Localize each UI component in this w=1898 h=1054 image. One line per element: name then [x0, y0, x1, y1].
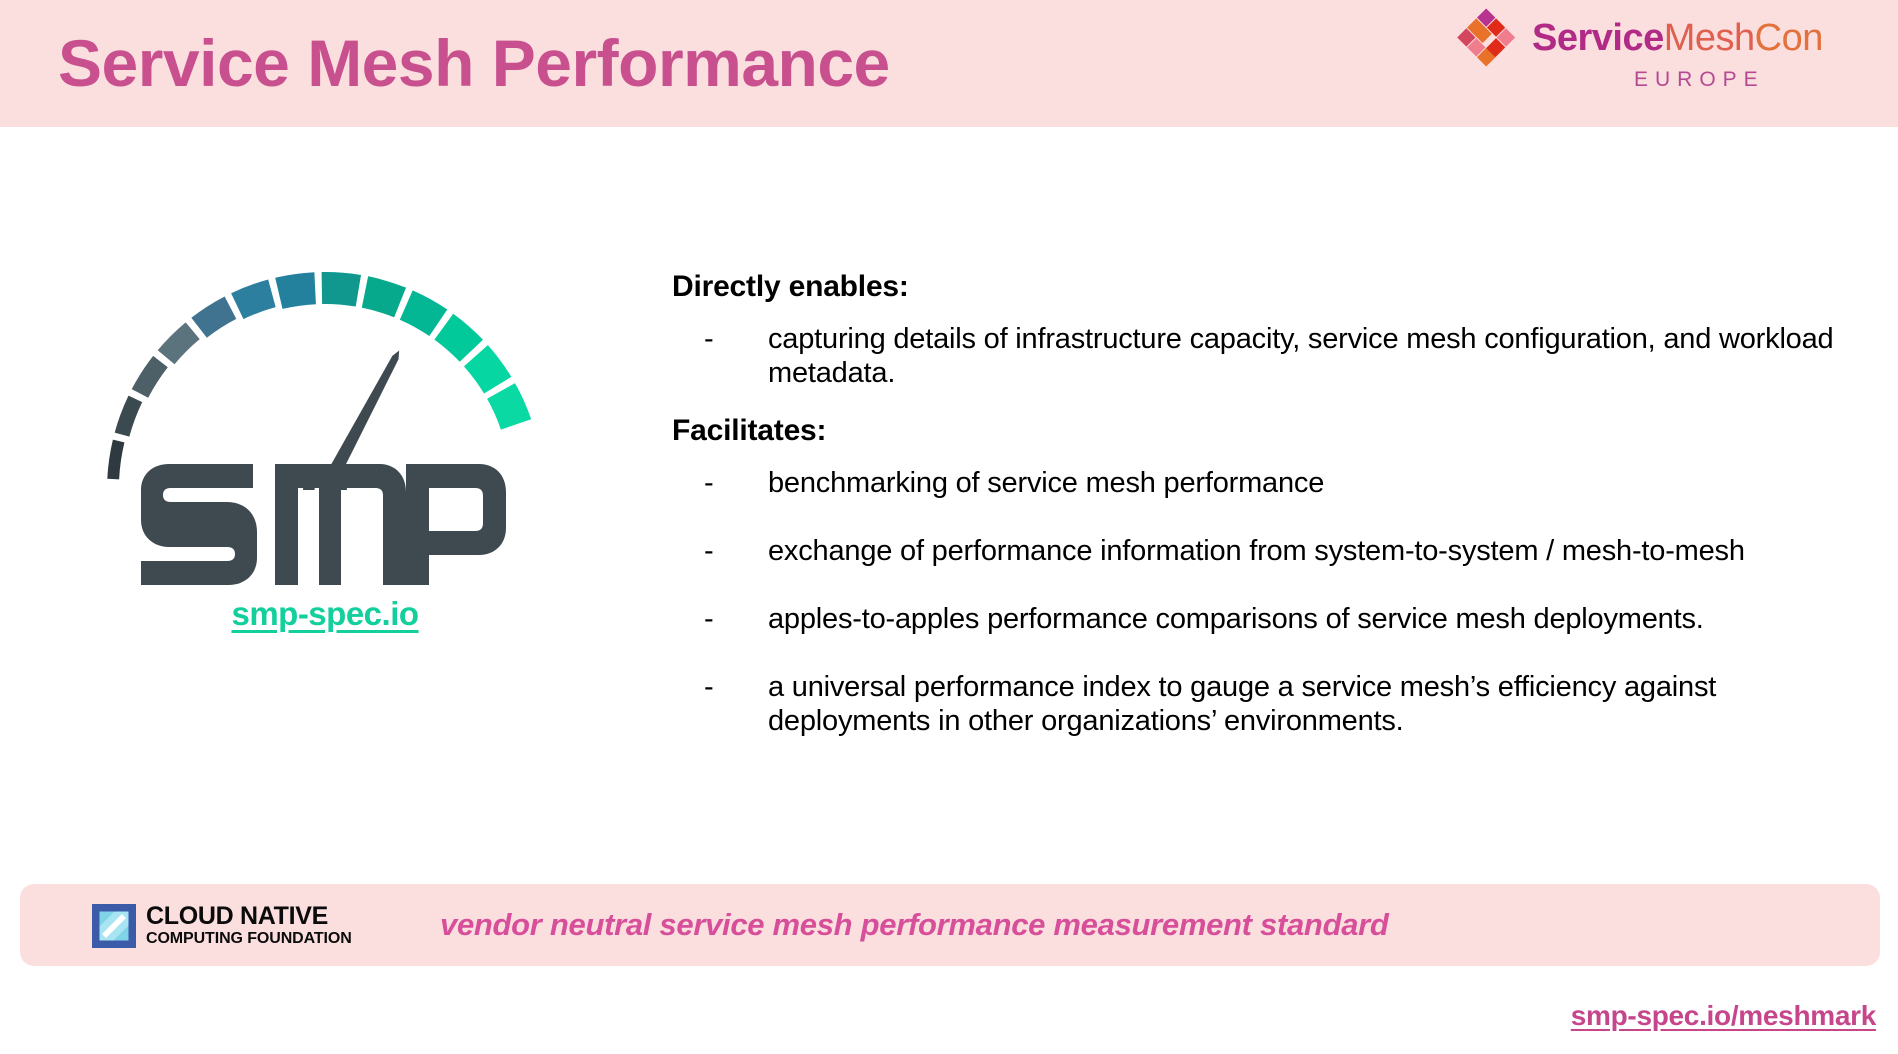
cncf-text-line1: CLOUD NATIVE — [146, 902, 328, 930]
footer-band: CLOUD NATIVE COMPUTING FOUNDATION vendor… — [20, 884, 1880, 966]
list-item: - capturing details of infrastructure ca… — [672, 322, 1872, 390]
content-panel: Directly enables: - capturing details of… — [672, 270, 1872, 738]
gauge-segment — [487, 383, 531, 429]
list-item: - exchange of performance information fr… — [672, 534, 1872, 568]
list-item: - a universal performance index to gauge… — [672, 670, 1872, 738]
smp-brand-block: smp-spec.io — [90, 240, 560, 670]
gauge-segment — [158, 322, 200, 364]
gauge-segment — [132, 356, 168, 398]
smp-wordmark — [135, 462, 515, 587]
bullet-text: exchange of performance information from… — [768, 535, 1745, 567]
logo-subtitle-europe: EUROPE — [1634, 68, 1765, 92]
gauge-segment — [231, 280, 276, 320]
logo-word-mesh: Mesh — [1664, 17, 1755, 59]
section-heading-facilitates: Facilitates: — [672, 414, 1872, 448]
section-heading-directly-enables: Directly enables: — [672, 270, 1872, 304]
smp-gauge-icon — [90, 240, 560, 490]
gauge-segment — [362, 276, 406, 317]
gauge-segment — [464, 345, 511, 393]
bullet-marker: - — [704, 602, 713, 636]
bullet-text: benchmarking of service mesh performance — [768, 467, 1324, 499]
cncf-text-line2: COMPUTING FOUNDATION — [146, 930, 352, 948]
logo-word-con: Con — [1755, 17, 1823, 59]
servicemeshcon-mark-icon — [1456, 8, 1522, 74]
bullet-marker: - — [704, 670, 713, 704]
bullet-marker: - — [704, 322, 713, 356]
gauge-segment — [322, 272, 361, 307]
gauge-segment — [400, 290, 447, 336]
gauge-segment — [107, 440, 124, 480]
smp-spec-link[interactable]: smp-spec.io — [90, 595, 560, 633]
bullet-marker: - — [704, 534, 713, 568]
servicemeshcon-wordmark: ServiceMeshCon — [1532, 12, 1823, 64]
servicemeshcon-logo: ServiceMeshCon EUROPE — [1446, 4, 1876, 110]
cncf-logo: CLOUD NATIVE COMPUTING FOUNDATION — [92, 900, 352, 952]
footer-tagline: vendor neutral service mesh performance … — [440, 902, 1389, 948]
gauge-segment — [434, 314, 483, 362]
gauge-segment — [191, 296, 236, 337]
bullet-list-facilitates: - benchmarking of service mesh performan… — [672, 466, 1872, 738]
logo-word-service: Service — [1532, 17, 1664, 59]
gauge-segment — [115, 396, 143, 437]
bullet-text: capturing details of infrastructure capa… — [768, 323, 1833, 389]
bullet-marker: - — [704, 466, 713, 500]
bullet-list-directly-enables: - capturing details of infrastructure ca… — [672, 322, 1872, 390]
page-title: Service Mesh Performance — [58, 8, 890, 118]
list-item: - apples-to-apples performance compariso… — [672, 602, 1872, 636]
gauge-segment — [275, 272, 316, 309]
cncf-mark-icon — [92, 904, 136, 948]
bullet-text: apples-to-apples performance comparisons… — [768, 603, 1704, 635]
bullet-text: a universal performance index to gauge a… — [768, 671, 1716, 737]
list-item: - benchmarking of service mesh performan… — [672, 466, 1872, 500]
meshmark-link[interactable]: smp-spec.io/meshmark — [1571, 1000, 1876, 1032]
